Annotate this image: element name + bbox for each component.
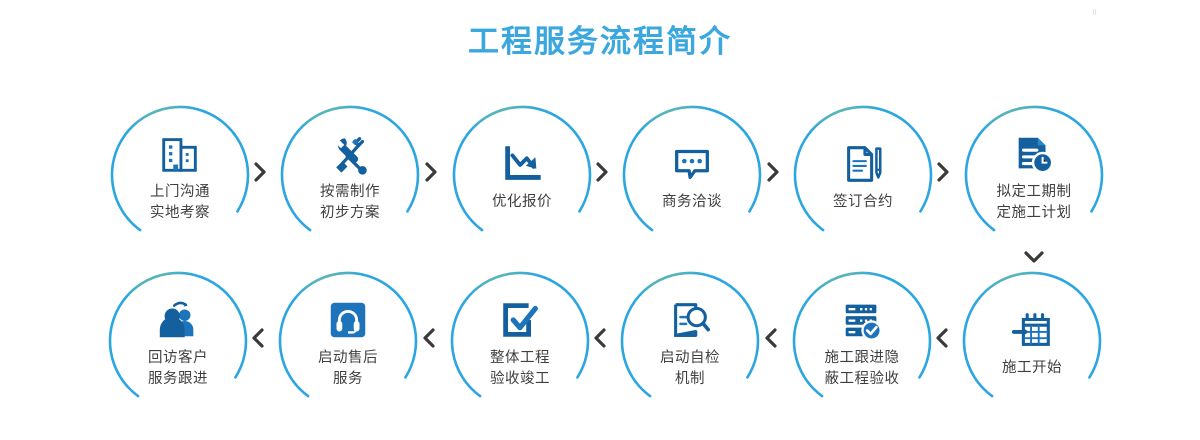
step-node-10[interactable]: 整体工程 验收竣工 [447,268,593,414]
step-label-line1: 优化报价 [492,192,552,213]
connector-chevron-left-5 [933,326,951,350]
step-node-4[interactable]: 商务洽谈 [619,102,765,248]
check-box-icon [497,297,543,343]
connector-chevron-down [1022,248,1046,266]
declining-chart-icon [499,141,545,187]
step-node-5[interactable]: 签订合约 [790,102,936,248]
page-title: 工程服务流程简介 [0,20,1200,64]
step-label-line2: 服务 [318,369,378,390]
step-node-9[interactable]: 启动自检 机制 [617,268,763,414]
wrench-screwdriver-icon [327,131,373,177]
step-label-line2: 定施工计划 [997,203,1072,224]
connector-chevron-left-1 [249,326,267,350]
connector-chevron-right-2 [422,160,440,184]
step-node-12[interactable]: 回访客户 服务跟进 [105,268,251,414]
process-flow-infographic: 工程服务流程简介 ⠿ [0,0,1200,440]
server-check-icon [839,297,885,343]
step-label-line2: 蔽工程验收 [825,369,900,390]
headset-icon [325,297,371,343]
step-label-line1: 启动售后 [318,348,378,369]
document-search-icon [667,297,713,343]
step-node-8[interactable]: 施工跟进隐 蔽工程验收 [789,268,935,414]
step-label-line2: 初步方案 [320,203,380,224]
connector-chevron-left-4 [762,326,780,350]
connector-chevron-left-3 [591,326,609,350]
bottom-row: 回访客户 服务跟进 [0,268,1200,414]
step-label-line1: 施工跟进隐 [825,348,900,369]
step-node-11[interactable]: 启动售后 服务 [275,268,421,414]
calendar-arrow-icon [1009,307,1055,353]
step-node-2[interactable]: 按需制作 初步方案 [277,102,423,248]
step-label-line1: 回访客户 [148,348,208,369]
connector-chevron-right-3 [593,160,611,184]
step-node-1[interactable]: 上门沟通 实地考察 [107,102,253,248]
step-label-line1: 签订合约 [833,192,893,213]
step-label-line1: 商务洽谈 [662,192,722,213]
connector-chevron-left-2 [420,326,438,350]
step-node-7[interactable]: 施工开始 [959,268,1105,414]
step-label-line2: 实地考察 [150,203,210,224]
step-label-line2: 验收竣工 [490,369,550,390]
speech-bubble-icon [669,141,715,187]
step-label-line2: 服务跟进 [148,369,208,390]
step-label-line1: 整体工程 [490,348,550,369]
connector-chevron-right-5 [934,160,952,184]
step-label-line1: 拟定工期制 [997,182,1072,203]
connector-chevron-right-4 [764,160,782,184]
step-label-line1: 上门沟通 [150,182,210,203]
step-label-line1: 启动自检 [660,348,720,369]
step-label-line1: 按需制作 [320,182,380,203]
step-label-line2: 机制 [660,369,720,390]
building-icon [157,131,203,177]
step-node-3[interactable]: 优化报价 [449,102,595,248]
watermark: ⠿ [1092,9,1097,18]
schedule-clock-icon [1011,131,1057,177]
top-row: 上门沟通 实地考察 [0,102,1200,248]
step-node-6[interactable]: 拟定工期制 定施工计划 [961,102,1107,248]
contract-pen-icon [840,141,886,187]
connector-chevron-right-1 [251,160,269,184]
two-people-icon [155,297,201,343]
step-label-line1: 施工开始 [1002,358,1062,379]
